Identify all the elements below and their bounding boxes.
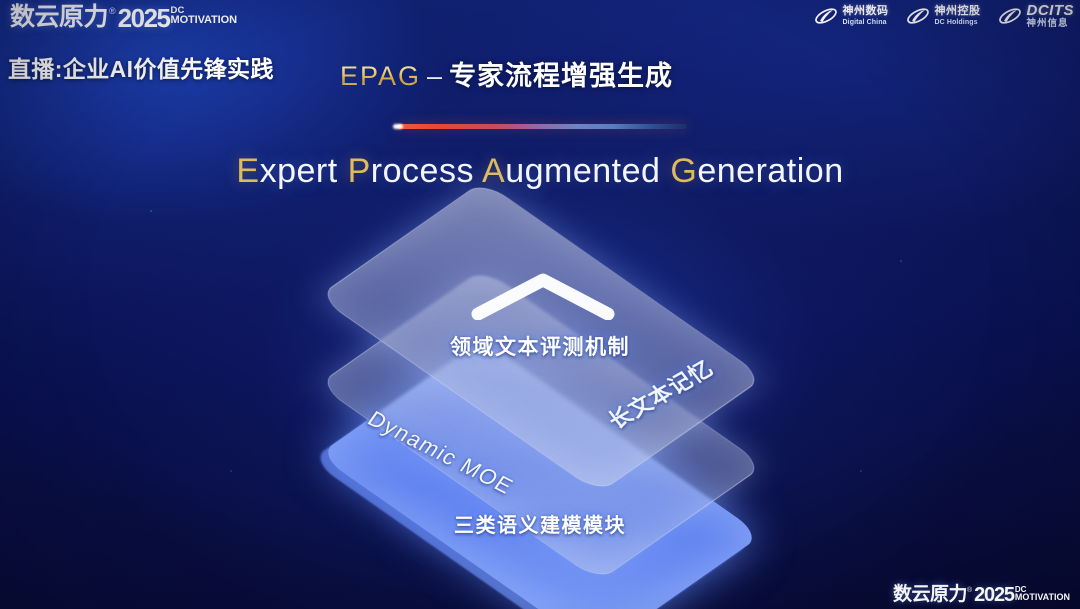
stack-label-top: 领域文本评测机制: [0, 331, 1080, 361]
slide-canvas: 数云原力 ® 2025 DC MOTIVATION 直播:企业AI价值先锋实践 …: [0, 0, 1080, 609]
stack-label-bottom: 三类语义建模模块: [0, 509, 1080, 538]
watermark-year: 2025: [974, 585, 1014, 605]
watermark-registered-mark: ®: [967, 587, 972, 594]
layered-stack-diagram: 领域文本评测机制 Dynamic MOE 长文本记忆 三类语义建模模块: [0, 0, 1080, 609]
watermark-dc-line2: MOTIVATION: [1015, 593, 1070, 602]
corner-watermark: 数云原力 ® 2025 DC MOTIVATION: [893, 585, 1070, 605]
watermark-name-cn: 数云原力: [893, 585, 967, 604]
watermark-dc-motivation: DC MOTIVATION: [1015, 585, 1070, 602]
chevron-up-icon: [470, 272, 616, 320]
